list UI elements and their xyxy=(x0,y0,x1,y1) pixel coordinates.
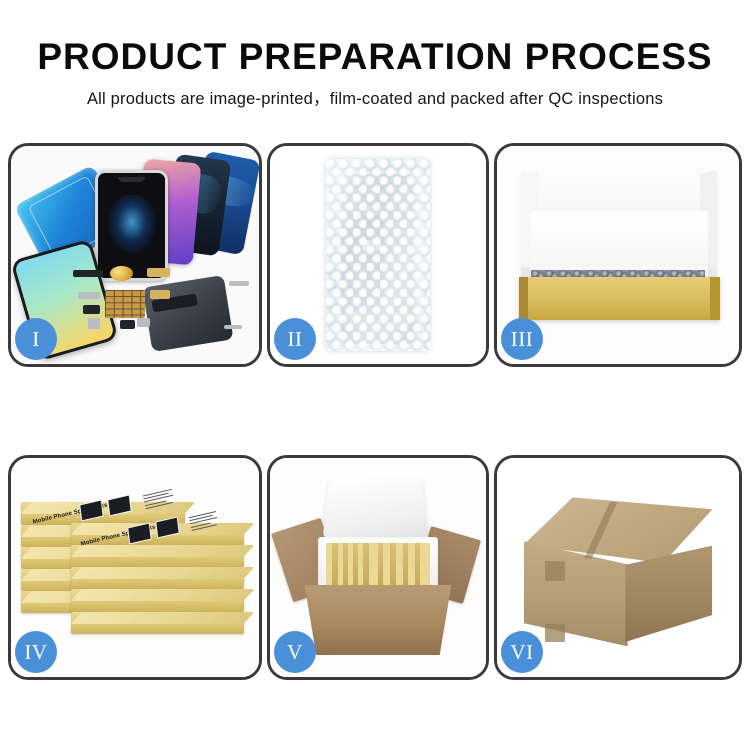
carton-tape-upper xyxy=(545,561,564,581)
bubble-wrap-bag xyxy=(326,159,430,351)
carton-with-foam-box-photo: V xyxy=(270,458,486,677)
process-step-1[interactable]: I xyxy=(8,143,262,367)
part-button xyxy=(83,305,100,314)
chip-board-icon xyxy=(105,290,145,318)
step-badge-2: II xyxy=(274,318,316,360)
step-badge-1: I xyxy=(15,318,57,360)
process-step-2[interactable]: II xyxy=(267,143,489,367)
kraft-box-front-2 xyxy=(71,545,244,567)
process-step-4[interactable]: Mobile Phone Spare Parts Mobile Phone Sp… xyxy=(8,455,262,680)
kraft-box-stack: Mobile Phone Spare Parts Mobile Phone Sp… xyxy=(21,489,249,660)
step-badge-6: VI xyxy=(501,631,543,673)
white-foam-lid-open xyxy=(323,478,429,538)
process-step-5[interactable]: V xyxy=(267,455,489,680)
kraft-tray-box xyxy=(519,277,720,321)
step-badge-3: III xyxy=(501,318,543,360)
process-step-6[interactable]: VI xyxy=(494,455,742,680)
kraft-tray-side-right xyxy=(710,277,720,321)
process-step-3[interactable]: III xyxy=(494,143,742,367)
kraft-box-front-5 xyxy=(71,612,244,634)
part-module xyxy=(120,320,135,329)
kraft-box-front-4 xyxy=(71,589,244,611)
carton-body xyxy=(305,585,452,655)
bubble-wrap-packed-screen-photo: II xyxy=(270,146,486,364)
step-badge-4: IV xyxy=(15,631,57,673)
stacked-kraft-boxes-photo: Mobile Phone Spare Parts Mobile Phone Sp… xyxy=(11,458,259,677)
part-screwdriver xyxy=(224,325,241,329)
open-kraft-box-with-foam-photo: III xyxy=(497,146,739,364)
part-gold-connector xyxy=(150,290,170,299)
camera-lens-icon xyxy=(110,266,132,281)
kraft-boxes-inside xyxy=(326,543,430,587)
process-step-grid: I II III xyxy=(0,0,750,750)
part-sim-tray xyxy=(88,318,100,329)
phone-display-black xyxy=(95,170,168,281)
kraft-tray-side-left xyxy=(519,277,529,321)
part-antenna xyxy=(229,281,249,285)
part-gold-flex xyxy=(147,268,169,277)
phone-screens-and-parts-photo: I xyxy=(11,146,259,364)
step-badge-5: V xyxy=(274,631,316,673)
carton-tape-lower xyxy=(545,624,564,642)
kraft-box-front-3 xyxy=(71,567,244,589)
phone-back-housing xyxy=(143,275,234,352)
sealed-shipping-carton-photo: VI xyxy=(497,458,739,677)
part-speaker xyxy=(73,270,103,277)
part-bracket xyxy=(78,292,100,299)
part-screw-plate xyxy=(137,318,149,327)
